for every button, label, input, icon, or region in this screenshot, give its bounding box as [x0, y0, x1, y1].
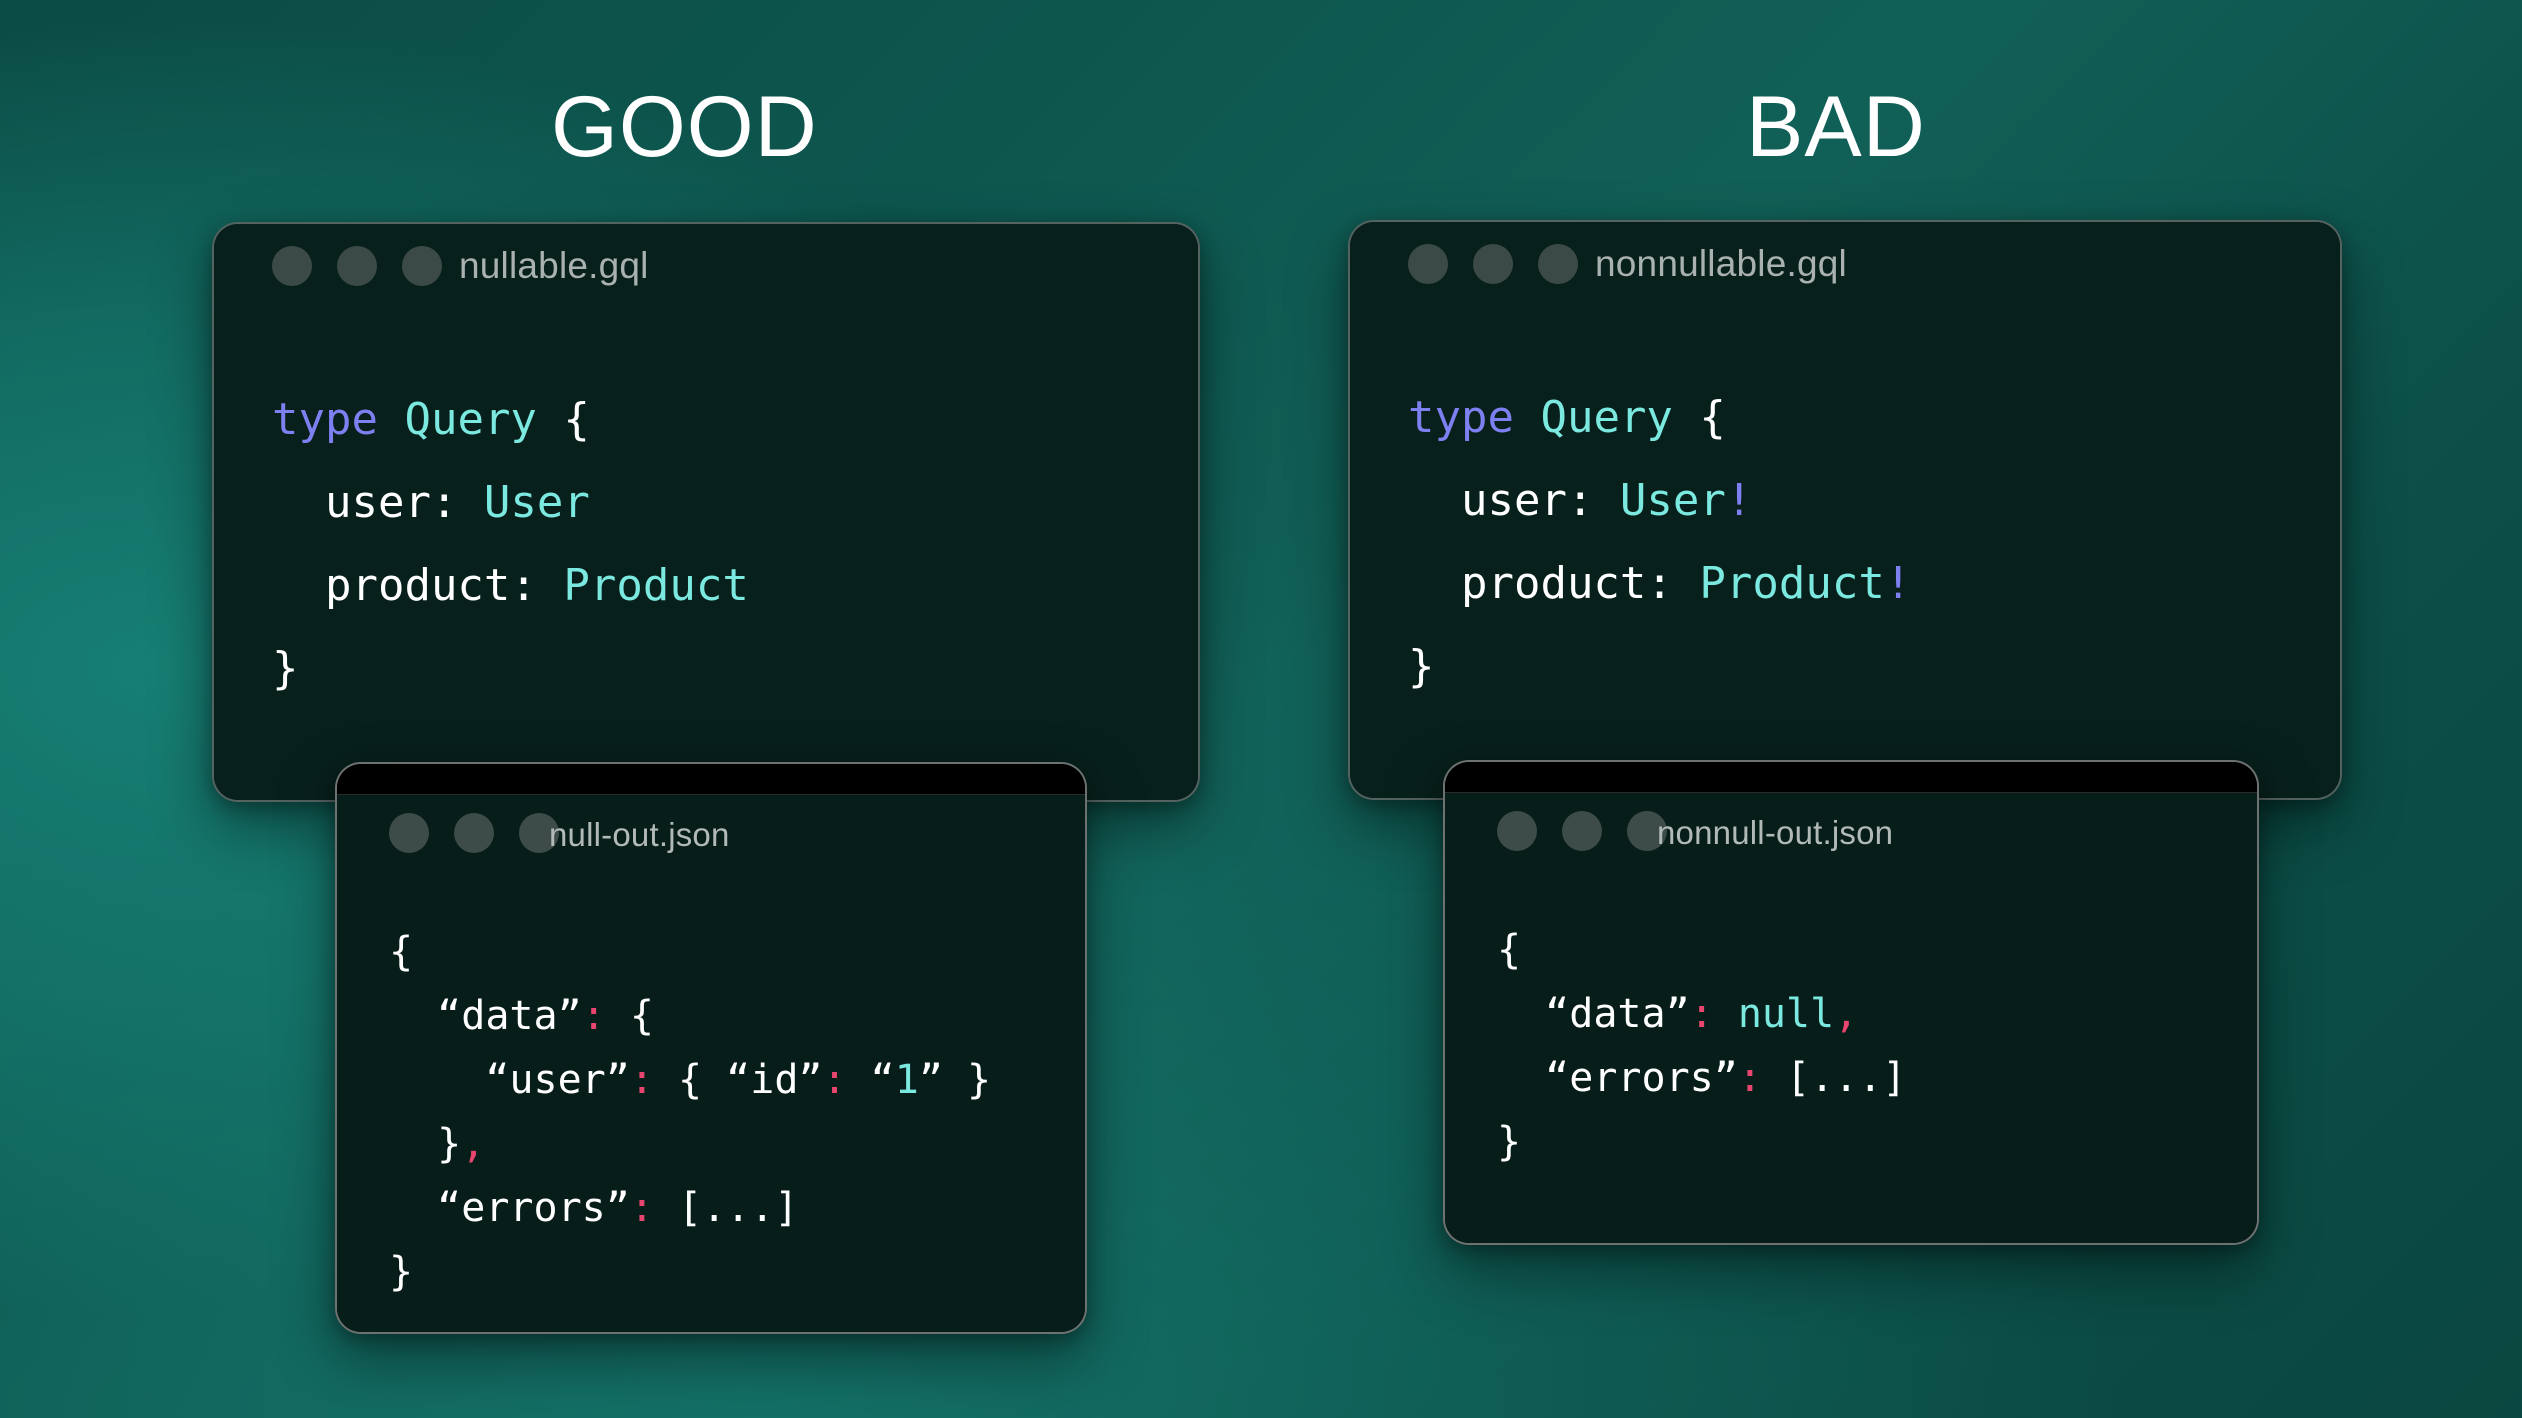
code-token: [...]	[1762, 1055, 1907, 1101]
code-token: ,	[1834, 991, 1858, 1037]
code-token: null	[1738, 991, 1834, 1037]
minimize-light-icon[interactable]	[1562, 811, 1602, 851]
window-top-strip	[337, 764, 1085, 795]
code-line: “data”: null,	[1497, 982, 1906, 1046]
window-titlebar[interactable]: nonnullable.gql	[1350, 222, 2340, 306]
code-token: :	[582, 993, 606, 1039]
window-body: nonnullable.gql type Query { user: User!…	[1350, 222, 2340, 798]
minimize-light-icon[interactable]	[337, 246, 377, 286]
code-line: “errors”: [...]	[1497, 1046, 1906, 1110]
minimize-light-icon[interactable]	[1473, 244, 1513, 284]
code-token: :	[630, 1185, 654, 1231]
code-token: product:	[272, 560, 563, 611]
code-line: type Query {	[1408, 376, 1911, 459]
code-line: product: Product!	[1408, 542, 1911, 625]
window-filename: nullable.gql	[459, 245, 649, 287]
code-line: product: Product	[272, 544, 749, 627]
code-block: { “data”: { “user”: { “id”: “1” } }, “er…	[389, 920, 991, 1304]
code-token	[1514, 392, 1541, 443]
code-line: }	[1408, 625, 1911, 708]
code-token: User	[1620, 475, 1726, 526]
window-titlebar[interactable]: nonnull-out.json	[1445, 793, 2257, 877]
maximize-light-icon[interactable]	[1538, 244, 1578, 284]
code-token	[378, 394, 405, 445]
close-light-icon[interactable]	[1408, 244, 1448, 284]
code-line: {	[389, 920, 991, 984]
code-line: }	[1497, 1110, 1906, 1174]
code-token: }	[1497, 1119, 1521, 1165]
code-token: :	[630, 1057, 654, 1103]
code-token: }	[389, 1121, 461, 1167]
code-token: [...]	[654, 1185, 799, 1231]
window-top-strip	[1445, 762, 2257, 793]
code-line: type Query {	[272, 378, 749, 461]
code-token: 1	[895, 1057, 919, 1103]
traffic-lights[interactable]	[272, 246, 442, 286]
close-light-icon[interactable]	[1497, 811, 1537, 851]
code-token: {	[1497, 927, 1521, 973]
code-token: “	[847, 1057, 895, 1103]
column-heading-good: GOOD	[551, 84, 818, 170]
code-window-nonnull-out-json[interactable]: nonnull-out.json { “data”: null, “errors…	[1443, 760, 2259, 1245]
code-token: type	[272, 394, 378, 445]
code-token: product:	[1408, 558, 1699, 609]
code-block: { “data”: null, “errors”: [...]}	[1497, 918, 1906, 1174]
code-token: }	[389, 1249, 413, 1295]
code-token: Product	[1699, 558, 1884, 609]
code-token: “id”	[726, 1057, 822, 1103]
close-light-icon[interactable]	[389, 813, 429, 853]
code-token: }	[1408, 641, 1435, 692]
window-body: nullable.gql type Query { user: User pro…	[214, 224, 1198, 800]
comparison-slide: GOOD BAD nullable.gql type Query { user:…	[0, 0, 2522, 1418]
close-light-icon[interactable]	[272, 246, 312, 286]
code-token: ,	[461, 1121, 485, 1167]
code-token: Product	[563, 560, 748, 611]
maximize-light-icon[interactable]	[402, 246, 442, 286]
window-titlebar[interactable]: null-out.json	[337, 795, 1085, 879]
traffic-lights[interactable]	[389, 813, 559, 853]
code-token: {	[654, 1057, 726, 1103]
code-token: “data”	[389, 993, 582, 1039]
code-token: Query	[404, 394, 536, 445]
window-filename: nonnull-out.json	[1657, 814, 1893, 852]
code-token: {	[537, 394, 590, 445]
code-token: :	[1738, 1055, 1762, 1101]
code-token: ” }	[919, 1057, 991, 1103]
window-body: null-out.json { “data”: { “user”: { “id”…	[337, 795, 1085, 1334]
code-token: !	[1726, 475, 1753, 526]
code-token: {	[1673, 392, 1726, 443]
code-token: Query	[1540, 392, 1672, 443]
code-token: user:	[272, 477, 484, 528]
minimize-light-icon[interactable]	[454, 813, 494, 853]
window-body: nonnull-out.json { “data”: null, “errors…	[1445, 793, 2257, 1245]
code-token: type	[1408, 392, 1514, 443]
code-line: {	[1497, 918, 1906, 982]
code-token	[1714, 991, 1738, 1037]
traffic-lights[interactable]	[1408, 244, 1578, 284]
code-block: type Query { user: User product: Product…	[272, 378, 749, 710]
window-filename: null-out.json	[549, 816, 730, 854]
code-window-nullable-gql[interactable]: nullable.gql type Query { user: User pro…	[212, 222, 1200, 802]
column-heading-bad: BAD	[1746, 84, 1926, 170]
window-titlebar[interactable]: nullable.gql	[214, 224, 1198, 308]
code-token: }	[272, 643, 299, 694]
code-token: :	[1690, 991, 1714, 1037]
code-line: “errors”: [...]	[389, 1176, 991, 1240]
code-token: {	[606, 993, 654, 1039]
window-filename: nonnullable.gql	[1595, 243, 1847, 285]
code-line: user: User!	[1408, 459, 1911, 542]
code-token: “data”	[1497, 991, 1690, 1037]
code-window-nonnullable-gql[interactable]: nonnullable.gql type Query { user: User!…	[1348, 220, 2342, 800]
code-line: },	[389, 1112, 991, 1176]
code-token: user:	[1408, 475, 1620, 526]
code-token: “errors”	[1497, 1055, 1738, 1101]
code-block: type Query { user: User! product: Produc…	[1408, 376, 1911, 708]
code-token: User	[484, 477, 590, 528]
code-line: user: User	[272, 461, 749, 544]
code-token: “errors”	[389, 1185, 630, 1231]
code-token: :	[823, 1057, 847, 1103]
code-token: “user”	[389, 1057, 630, 1103]
code-token: !	[1885, 558, 1912, 609]
code-token: {	[389, 929, 413, 975]
traffic-lights[interactable]	[1497, 811, 1667, 851]
code-line: “data”: {	[389, 984, 991, 1048]
code-line: “user”: { “id”: “1” }	[389, 1048, 991, 1112]
code-line: }	[272, 627, 749, 710]
code-line: }	[389, 1240, 991, 1304]
code-window-null-out-json[interactable]: null-out.json { “data”: { “user”: { “id”…	[335, 762, 1087, 1334]
